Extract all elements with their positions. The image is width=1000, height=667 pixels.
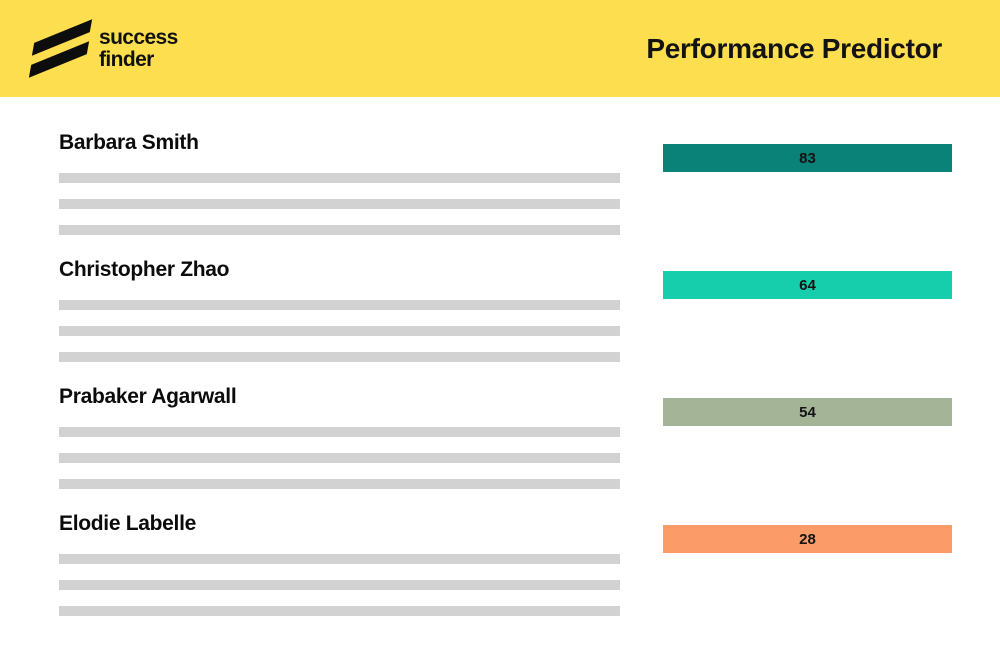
score-bar[interactable]: 64 — [663, 271, 952, 299]
score-bar[interactable]: 83 — [663, 144, 952, 172]
candidate-name: Prabaker Agarwall — [59, 351, 620, 407]
placeholder-line — [59, 554, 620, 564]
brand-logo: success finder — [34, 21, 178, 77]
placeholder-line — [59, 300, 620, 310]
candidate-row[interactable]: Prabaker Agarwall 54 — [0, 351, 1000, 478]
placeholder-line — [59, 427, 620, 437]
candidate-name: Elodie Labelle — [59, 478, 620, 534]
score-bar[interactable]: 54 — [663, 398, 952, 426]
candidate-name: Christopher Zhao — [59, 224, 620, 280]
candidate-detail-placeholders — [59, 554, 620, 616]
placeholder-line — [59, 606, 620, 616]
brand-wordmark: success finder — [99, 27, 178, 70]
candidate-info: Christopher Zhao — [59, 224, 620, 362]
candidate-info: Barbara Smith — [59, 97, 620, 235]
score-value: 28 — [799, 532, 816, 547]
page-title: Performance Predictor — [646, 33, 942, 65]
candidate-name: Barbara Smith — [59, 97, 620, 153]
score-value: 64 — [799, 278, 816, 293]
double-slash-logo-icon — [34, 21, 86, 77]
candidate-row[interactable]: Barbara Smith 83 — [0, 97, 1000, 224]
score-value: 83 — [799, 151, 816, 166]
brand-word-success: success — [99, 27, 178, 48]
score-bar[interactable]: 28 — [663, 525, 952, 553]
placeholder-line — [59, 173, 620, 183]
candidate-info: Prabaker Agarwall — [59, 351, 620, 489]
candidate-list: Barbara Smith 83 Christopher Zhao — [0, 97, 1000, 667]
candidate-info: Elodie Labelle — [59, 478, 620, 616]
candidate-row[interactable]: Christopher Zhao 64 — [0, 224, 1000, 351]
app-header: success finder Performance Predictor — [0, 0, 1000, 97]
candidate-row[interactable]: Elodie Labelle 28 — [0, 478, 1000, 605]
brand-word-finder: finder — [99, 49, 178, 70]
placeholder-line — [59, 580, 620, 590]
score-value: 54 — [799, 405, 816, 420]
placeholder-line — [59, 453, 620, 463]
performance-predictor-page: success finder Performance Predictor Bar… — [0, 0, 1000, 667]
placeholder-line — [59, 199, 620, 209]
placeholder-line — [59, 326, 620, 336]
